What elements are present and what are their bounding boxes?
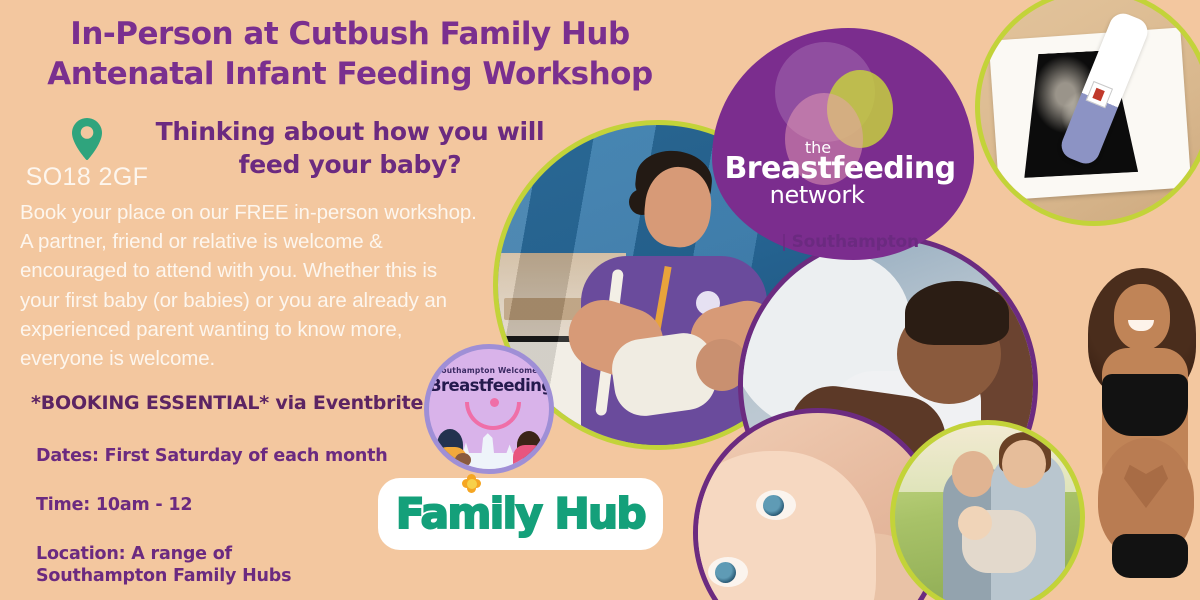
- photo-ultrasound-scan-and-pregnancy-test: [975, 0, 1200, 226]
- subtitle-line-1: Thinking about how you will: [150, 115, 550, 148]
- postcode-label: SO18 2GF: [22, 163, 152, 192]
- bfn-region-label: |Southampton: [726, 232, 974, 252]
- title-line-2: Antenatal Infant Feeding Workshop: [0, 54, 700, 94]
- swb-top-text: Southampton Welcomes: [429, 366, 549, 375]
- detail-time: Time: 10am - 12: [36, 494, 192, 516]
- body-line: A partner, friend or relative is welcome…: [20, 227, 540, 256]
- body-copy: Book your place on our FREE in-person wo…: [20, 198, 540, 373]
- photo-family-outdoors-with-baby: [890, 420, 1085, 600]
- title-line-1: In-Person at Cutbush Family Hub: [0, 14, 700, 54]
- bfn-blob-shape: the Breastfeeding network: [712, 28, 974, 260]
- bfn-region-text: Southampton: [792, 232, 919, 252]
- body-line: encouraged to attend with you. Whether t…: [20, 256, 540, 285]
- photo-pregnant-woman-heart-hands-on-bump: [1078, 262, 1200, 600]
- subtitle-line-2: feed your baby?: [150, 148, 550, 181]
- detail-dates: Dates: First Saturday of each month: [36, 445, 388, 467]
- location-block: SO18 2GF: [22, 117, 152, 192]
- flyer-title: In-Person at Cutbush Family Hub Antenata…: [0, 14, 700, 95]
- detail-location-line-2: Southampton Family Hubs: [36, 565, 291, 587]
- swb-main-text: Breastfeeding: [429, 376, 549, 395]
- southampton-welcomes-breastfeeding-badge: Southampton Welcomes Breastfeeding: [424, 344, 554, 474]
- body-line: Book your place on our FREE in-person wo…: [20, 198, 540, 227]
- smile-arc-icon: [465, 402, 521, 430]
- bfn-network: network: [712, 183, 974, 207]
- breastfeeding-network-logo: the Breastfeeding network |Southampton: [712, 28, 974, 260]
- bfn-divider: |: [781, 232, 787, 252]
- body-line: experienced parent wanting to know more,: [20, 315, 540, 344]
- map-pin-icon: [70, 117, 104, 161]
- family-hub-wordmark: Family Hub: [396, 493, 645, 535]
- illustrated-baby: [455, 453, 471, 467]
- bfn-breastfeeding: Breastfeeding: [712, 154, 974, 184]
- illustrated-woman-right-body: [513, 445, 545, 469]
- bfn-wordmark: the Breastfeeding network: [712, 140, 974, 207]
- flyer-subtitle: Thinking about how you will feed your ba…: [150, 115, 550, 181]
- detail-location: Location: A range of Southampton Family …: [36, 543, 291, 587]
- body-line: your first baby (or babies) or you are a…: [20, 286, 540, 315]
- family-hub-logo: Family Hub: [378, 478, 663, 550]
- detail-location-line-1: Location: A range of: [36, 543, 291, 565]
- event-flyer: In-Person at Cutbush Family Hub Antenata…: [0, 0, 1200, 600]
- flower-icon: [462, 474, 481, 493]
- booking-essential-note: *BOOKING ESSENTIAL* via Eventbrite: [31, 392, 423, 414]
